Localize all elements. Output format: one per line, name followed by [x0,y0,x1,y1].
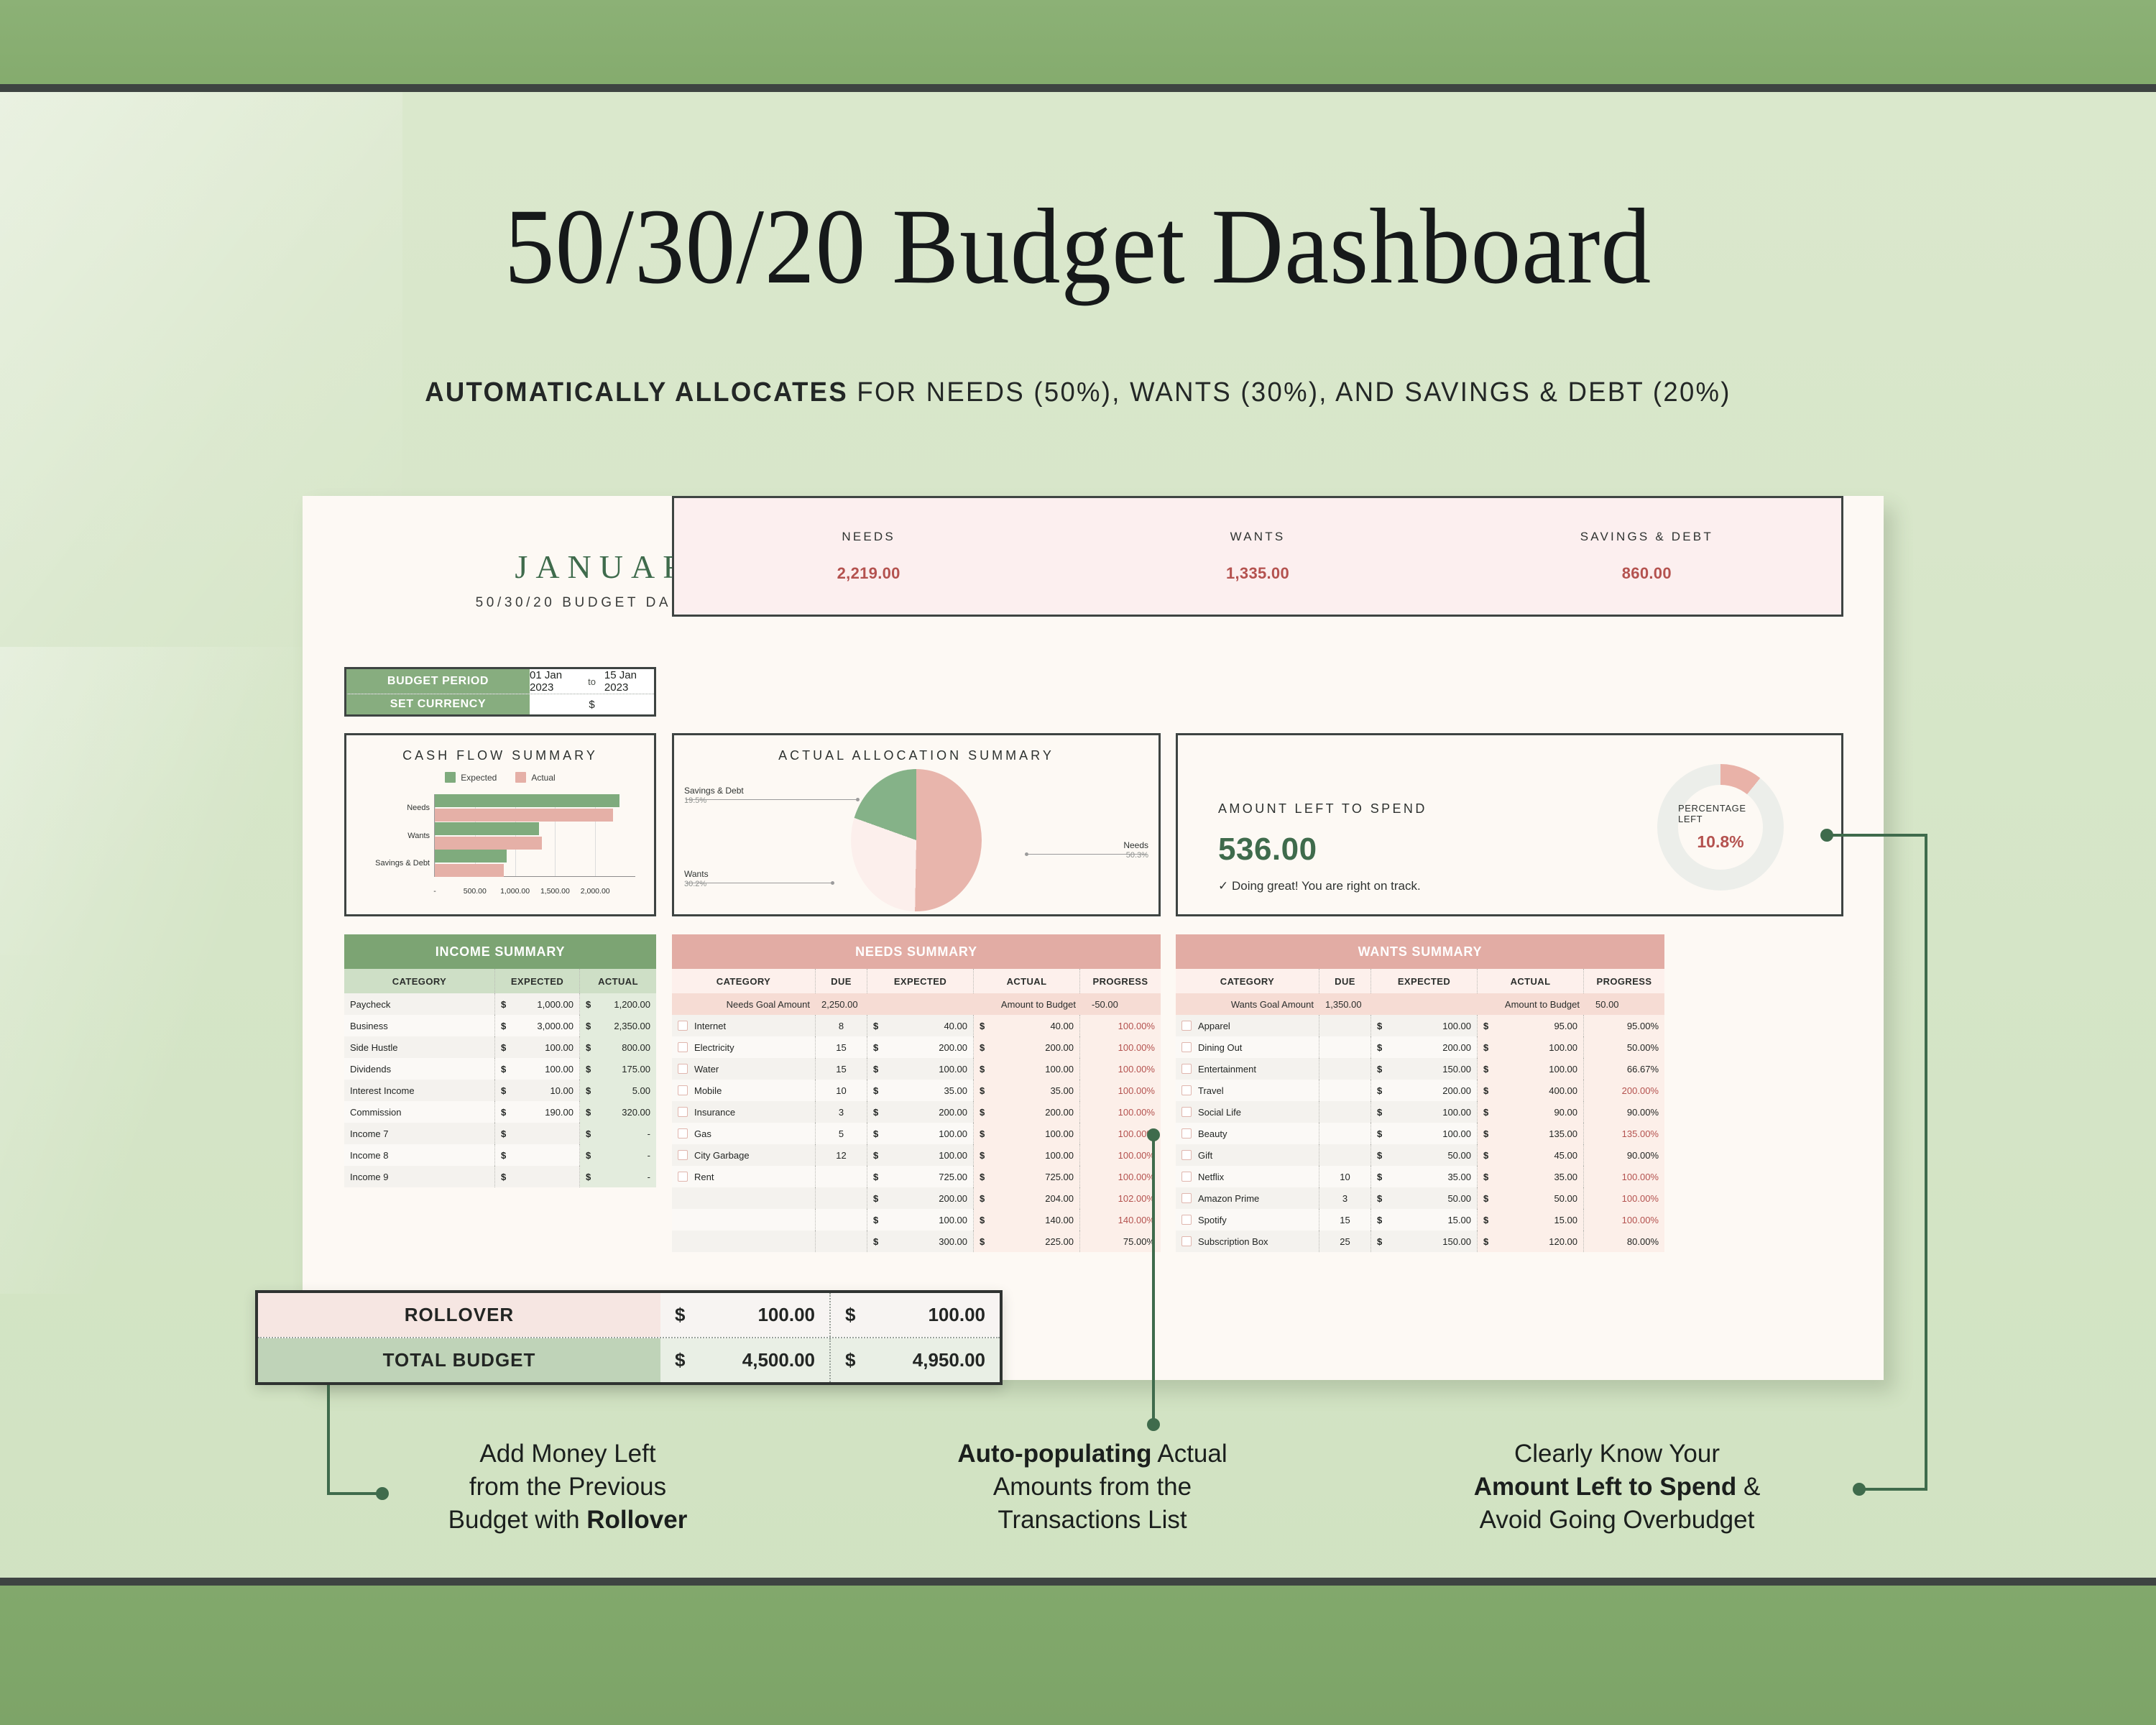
kpi-needs: NEEDS 2,219.00 [674,498,1063,615]
budget-period-value[interactable]: 01 Jan 2023 to 15 Jan 2023 [530,669,654,694]
cell-category: Entertainment [1176,1058,1319,1080]
table-row[interactable]: Spotify15$15.00$15.00100.00% [1176,1209,1664,1230]
cell-category: Business [350,1021,388,1031]
cell-progress: 102.00% [1080,1187,1161,1209]
money: $100.00 [1377,1021,1471,1031]
cell-expected: $200.00 [867,1036,974,1058]
money: $1,200.00 [586,999,650,1010]
cash-flow-summary-card: CASH FLOW SUMMARY Expected Actual -500.0… [344,733,656,916]
col-due: DUE [816,969,867,993]
anno2-line1: Auto-populating Actual [898,1437,1286,1471]
row-checkbox[interactable] [1181,1236,1192,1246]
cell-due [1319,1123,1371,1144]
row-checkbox[interactable] [678,1021,688,1031]
row-checkbox[interactable] [678,1107,688,1117]
total-budget-actual: $4,950.00 [829,1338,1000,1382]
table-row[interactable]: Paycheck$1,000.00$1,200.00 [344,993,656,1015]
cell-category: Travel [1176,1080,1319,1101]
cash-flow-plot-area: -500.001,000.001,500.002,000.00NeedsWant… [356,791,647,903]
currency-symbol: $ [1483,1107,1488,1118]
currency-symbol: $ [1483,1021,1488,1031]
money: $100.00 [1483,1064,1577,1075]
cell-category: Interest Income [350,1085,415,1096]
wants-goal-label: Wants Goal Amount [1176,993,1319,1015]
table-row[interactable]: $200.00$204.00102.00% [672,1187,1161,1209]
cell-actual: $100.00 [974,1123,1080,1144]
amount: 200.00 [1382,1042,1471,1053]
cell-due: 10 [1319,1166,1371,1187]
cell-category: Beauty [1176,1123,1319,1144]
cell-actual: $100.00 [974,1058,1080,1080]
x-axis-tick-label: 2,000.00 [581,887,610,896]
amount: 100.00 [1488,1042,1577,1053]
cell-progress: 100.00% [1584,1166,1664,1187]
cell-actual: $35.00 [1478,1166,1584,1187]
row-checkbox[interactable] [678,1064,688,1074]
row-checkbox[interactable] [678,1150,688,1160]
currency-symbol: $ [980,1064,985,1075]
amount-left-note: ✓ Doing great! You are right on track. [1218,879,1421,893]
currency-symbol: $ [1377,1193,1382,1204]
pie-label-savings-name: Savings & Debt [684,786,744,796]
cell-expected: $100.00 [867,1209,974,1230]
cell-category: Spotify [1198,1215,1227,1225]
cell-expected: $40.00 [867,1015,974,1036]
cell-expected: $ [495,1144,580,1166]
anno1-line3: Budget with Rollover [381,1504,755,1537]
table-row[interactable]: Business$3,000.00$2,350.00 [344,1015,656,1036]
cell-expected: $3,000.00 [495,1015,580,1036]
cell-category: Amazon Prime [1176,1187,1319,1209]
cell-progress: 135.00% [1584,1123,1664,1144]
row-checkbox[interactable] [1181,1064,1192,1074]
col-expected: EXPECTED [495,969,580,993]
set-currency-row: SET CURRENCY $ [346,694,654,714]
amount: 2,350.00 [591,1021,650,1031]
table-row[interactable]: Insurance3$200.00$200.00100.00% [672,1101,1161,1123]
cell-progress: 50.00% [1627,1042,1659,1053]
period-start: 01 Jan 2023 [530,669,579,694]
amount: 400.00 [1488,1085,1577,1096]
wants-summary-title: WANTS SUMMARY [1176,934,1664,969]
amount: 320.00 [591,1107,650,1118]
cell-actual: $- [580,1144,656,1166]
money: $35.00 [980,1085,1074,1096]
cell-expected: $200.00 [1371,1080,1478,1101]
cell-category: Gas [672,1123,816,1144]
cell-progress: 200.00% [1622,1085,1659,1096]
cell-actual: $135.00 [1478,1123,1584,1144]
col-actual: ACTUAL [1478,969,1584,993]
pie-leader-wants [686,883,833,883]
currency-symbol: $ [586,1172,591,1182]
currency-symbol: $ [980,1042,985,1053]
table-row[interactable]: Income 9$$- [344,1166,656,1187]
cell-due: 8 [839,1021,844,1031]
money: $150.00 [1377,1064,1471,1075]
currency-symbol: $ [873,1107,878,1118]
table-row[interactable]: Income 7$$- [344,1123,656,1144]
cell-actual: $2,350.00 [580,1015,656,1036]
amount: 1,000.00 [506,999,573,1010]
pie-label-wants-name: Wants [684,869,709,880]
money: $90.00 [1483,1107,1577,1118]
money: $35.00 [1377,1172,1471,1182]
pie-label-savings: Savings & Debt 19.5% [684,786,744,806]
cell-expected: $100.00 [1371,1101,1478,1123]
currency-symbol: $ [980,1172,985,1182]
cell-progress: 100.00% [1118,1085,1155,1096]
amount: 204.00 [985,1193,1074,1204]
row-checkbox[interactable] [1181,1193,1192,1203]
total-budget-row: TOTAL BUDGET $4,500.00 $4,950.00 [258,1337,1000,1382]
bar-fill [435,850,507,862]
legend-actual: Actual [515,772,555,783]
cell-progress: 80.00% [1627,1236,1659,1247]
table-row[interactable]: Beauty$100.00$135.00135.00% [1176,1123,1664,1144]
cash-flow-legend: Expected Actual [346,772,654,783]
table-row[interactable]: Interest Income$10.00$5.00 [344,1080,656,1101]
money: $100.00 [980,1064,1074,1075]
money: $200.00 [1377,1042,1471,1053]
currency-symbol: $ [980,1236,985,1247]
amount: 300.00 [878,1236,967,1247]
cell-progress: 75.00% [1080,1230,1161,1252]
money: $200.00 [873,1042,967,1053]
cell-due [1319,1101,1371,1123]
subtitle-rest: FOR NEEDS (50%), WANTS (30%), AND SAVING… [848,377,1731,408]
table-row[interactable]: Water15$100.00$100.00100.00% [672,1058,1161,1080]
row-checkbox[interactable] [678,1085,688,1095]
wants-goal-row: Wants Goal Amount 1,350.00 Amount to Bud… [1176,993,1664,1015]
money: $150.00 [1377,1236,1471,1247]
cell-expected: $35.00 [1371,1166,1478,1187]
cell-expected: $300.00 [867,1230,974,1252]
cell-progress: 100.00% [1080,1080,1161,1101]
set-currency-value[interactable]: $ [530,694,654,714]
cell-category: Business [344,1015,495,1036]
legend-swatch-expected [445,772,456,783]
money: $400.00 [1483,1085,1577,1096]
bar-expected-wants [435,822,539,835]
cell-actual: $100.00 [1478,1036,1584,1058]
row-checkbox[interactable] [1181,1042,1192,1052]
currency-symbol: $ [873,1021,878,1031]
col-category: CATEGORY [1176,969,1319,993]
currency-symbol: $ [1483,1042,1488,1053]
connector-dot-end [1853,1483,1866,1496]
cell-expected: $100.00 [1371,1015,1478,1036]
money: $50.00 [1377,1150,1471,1161]
money: $40.00 [873,1021,967,1031]
table-row[interactable]: $300.00$225.0075.00% [672,1230,1161,1252]
table-row[interactable]: Dining Out$200.00$100.0050.00% [1176,1036,1664,1058]
donut-center: PERCENTAGE LEFT 10.8% [1678,785,1763,870]
cell-category: City Garbage [694,1150,750,1161]
cell-category: Income 7 [350,1128,388,1139]
table-row[interactable]: Subscription Box25$150.00$120.0080.00% [1176,1230,1664,1252]
currency-symbol: $ [980,1085,985,1096]
bar-fill [435,809,613,822]
currency-symbol: $ [873,1150,878,1161]
table-row[interactable]: Income 8$$- [344,1144,656,1166]
table-row[interactable]: Amazon Prime3$50.00$50.00100.00% [1176,1187,1664,1209]
amount: 190.00 [506,1107,573,1118]
cell-expected: $100.00 [495,1036,580,1058]
money: $100.00 [873,1215,967,1225]
row-checkbox[interactable] [1181,1021,1192,1031]
table-row[interactable]: Social Life$100.00$90.0090.00% [1176,1101,1664,1123]
cell-due: 15 [1319,1209,1371,1230]
amount: 150.00 [1382,1236,1471,1247]
amount: 100.00 [1488,1064,1577,1075]
cell-category [672,1209,816,1230]
table-row[interactable]: Apparel$100.00$95.0095.00% [1176,1015,1664,1036]
table-row[interactable]: Gas5$100.00$100.00100.00% [672,1123,1161,1144]
amount: - [591,1172,650,1182]
cell-category: Interest Income [344,1080,495,1101]
amount: 175.00 [591,1064,650,1075]
cell-category: Dividends [344,1058,495,1080]
row-checkbox[interactable] [678,1042,688,1052]
cell-progress: 90.00% [1584,1101,1664,1123]
currency-symbol: $ [586,1021,591,1031]
row-checkbox[interactable] [1181,1172,1192,1182]
table-row[interactable]: Travel$200.00$400.00200.00% [1176,1080,1664,1101]
wants-budget-label: Amount to Budget [1399,993,1585,1015]
allocation-pie-wrap: Savings & Debt 19.5% Wants 30.2% Needs 5… [674,770,1158,910]
annotation-transactions: Auto-populating Actual Amounts from the … [898,1437,1286,1537]
cell-category: Insurance [694,1107,735,1118]
cell-progress: 90.00% [1584,1144,1664,1166]
amount: 35.00 [1488,1172,1577,1182]
money: $100.00 [501,1064,573,1075]
anno1-line3-pre: Budget with [448,1506,587,1534]
cell-category: Income 9 [344,1166,495,1187]
currency-symbol: $ [1483,1172,1488,1182]
currency-symbol: $ [1483,1128,1488,1139]
wants-summary-table: WANTS SUMMARY CATEGORY DUE EXPECTED ACTU… [1176,934,1664,1252]
cell-progress: 100.00% [1584,1187,1664,1209]
bar-actual-needs [435,809,613,822]
cell-category: Travel [1198,1085,1224,1096]
table-row[interactable]: Entertainment$150.00$100.0066.67% [1176,1058,1664,1080]
currency-symbol: $ [586,1085,591,1096]
kpi-wants-label: WANTS [1230,530,1286,544]
set-currency-label: SET CURRENCY [346,694,530,714]
money: $100.00 [873,1150,967,1161]
actual-allocation-card: ACTUAL ALLOCATION SUMMARY Savings & Debt… [672,733,1161,916]
money: $100.00 [980,1128,1074,1139]
cell-due: 12 [816,1144,867,1166]
money: $- [586,1172,650,1182]
money: $45.00 [1483,1150,1577,1161]
cell-due: 3 [816,1101,867,1123]
table-row[interactable]: Dividends$100.00$175.00 [344,1058,656,1080]
total-budget-expected: $4,500.00 [660,1338,829,1382]
currency-symbol: $ [501,1172,506,1182]
currency-symbol: $ [586,1064,591,1075]
amount: 225.00 [985,1236,1074,1247]
cell-category [672,1230,816,1252]
currency-symbol: $ [980,1150,985,1161]
currency-symbol: $ [1483,1215,1488,1225]
cell-category: Apparel [1198,1021,1230,1031]
amount-left-label: AMOUNT LEFT TO SPEND [1218,801,1427,816]
table-row[interactable]: Internet8$40.00$40.00100.00% [672,1015,1161,1036]
row-checkbox[interactable] [1181,1085,1192,1095]
table-row[interactable]: Electricity15$200.00$200.00100.00% [672,1036,1161,1058]
total-budget-label: TOTAL BUDGET [258,1338,660,1382]
cell-expected: $100.00 [867,1123,974,1144]
money: $225.00 [980,1236,1074,1247]
cell-category: Apparel [1176,1015,1319,1036]
pie-label-needs: Needs 50.3% [1123,840,1148,861]
currency-symbol: $ [1483,1193,1488,1204]
amount: 100.00 [878,1128,967,1139]
money: $200.00 [980,1042,1074,1053]
currency-symbol: $ [873,1215,878,1225]
cell-actual: $120.00 [1478,1230,1584,1252]
amount-left-value: 536.00 [1218,832,1317,868]
currency-symbol: $ [873,1064,878,1075]
cell-due [1319,1144,1371,1166]
amount: 100.00 [1382,1107,1471,1118]
table-row[interactable]: Rent$725.00$725.00100.00% [672,1166,1161,1187]
rollover-actual: $100.00 [829,1293,1000,1337]
row-checkbox[interactable] [678,1172,688,1182]
kpi-wants-value: 1,335.00 [1226,564,1289,583]
cell-actual: $800.00 [580,1036,656,1058]
cell-due: 10 [836,1085,846,1096]
cell-progress: 100.00% [1622,1193,1659,1204]
cell-progress: 66.67% [1627,1064,1659,1075]
table-row[interactable]: $100.00$140.00140.00% [672,1209,1161,1230]
cell-expected: $15.00 [1371,1209,1478,1230]
money: $140.00 [980,1215,1074,1225]
wants-summary-columns: CATEGORY DUE EXPECTED ACTUAL PROGRESS [1176,969,1664,993]
connector-line-h-bottom [1858,1488,1927,1491]
money: $1,000.00 [501,999,573,1010]
rollover-callout: ROLLOVER $100.00 $100.00 TOTAL BUDGET $4… [255,1290,1003,1385]
money: $2,350.00 [586,1021,650,1031]
amount: 100.00 [1382,1021,1471,1031]
money: $135.00 [1483,1128,1577,1139]
cell-category: Spotify [1176,1209,1319,1230]
table-row[interactable]: Side Hustle$100.00$800.00 [344,1036,656,1058]
top-band [0,0,2156,92]
cell-progress: 100.00% [1118,1064,1155,1075]
cell-category: Netflix [1176,1166,1319,1187]
currency-symbol: $ [1377,1150,1382,1161]
table-row[interactable]: Netflix10$35.00$35.00100.00% [1176,1166,1664,1187]
poster-page: 50/30/20 Budget Dashboard AUTOMATICALLY … [0,0,2156,1725]
amount: 725.00 [985,1172,1074,1182]
cell-category: Mobile [672,1080,816,1101]
money: $50.00 [1377,1193,1471,1204]
amount: 50.00 [1382,1150,1471,1161]
cell-category: Side Hustle [344,1036,495,1058]
cell-expected: $100.00 [495,1058,580,1080]
connector-line-h [327,1492,381,1495]
cell-actual: $95.00 [1478,1015,1584,1036]
money: $100.00 [1377,1128,1471,1139]
currency-symbol: $ [501,1064,506,1075]
cell-expected: $200.00 [867,1101,974,1123]
cell-actual: $45.00 [1478,1144,1584,1166]
table-row[interactable]: Commission$190.00$320.00 [344,1101,656,1123]
row-checkbox[interactable] [678,1128,688,1138]
cell-category: Subscription Box [1176,1230,1319,1252]
cell-actual: $15.00 [1478,1209,1584,1230]
row-checkbox[interactable] [1181,1107,1192,1117]
table-row[interactable]: Mobile10$35.00$35.00100.00% [672,1080,1161,1101]
money: $100.00 [873,1128,967,1139]
cell-due [816,1166,867,1187]
x-axis-tick-label: 1,500.00 [540,887,570,896]
cell-actual: $175.00 [580,1058,656,1080]
bar-fill [435,822,539,835]
money: $ [501,1128,573,1139]
money: $200.00 [980,1107,1074,1118]
money: $3,000.00 [501,1021,573,1031]
table-row[interactable]: City Garbage12$100.00$100.00100.00% [672,1144,1161,1166]
cell-category: Mobile [694,1085,722,1096]
income-summary-table: INCOME SUMMARY CATEGORY EXPECTED ACTUAL … [344,934,656,1187]
currency-symbol: $ [980,1107,985,1118]
kpi-wants: WANTS 1,335.00 [1063,498,1452,615]
cell-category: Side Hustle [350,1042,397,1053]
money: $725.00 [980,1172,1074,1182]
cell-expected: $ [495,1123,580,1144]
anno2-line3: Transactions List [898,1504,1286,1537]
connector-dot-end [1147,1418,1160,1431]
y-axis-tick-label: Wants [407,832,430,840]
bar-fill [435,794,619,807]
row-checkbox[interactable] [1181,1128,1192,1138]
cell-category: Water [694,1064,719,1075]
currency-symbol: $ [501,1042,506,1053]
bar-fill [435,864,504,877]
cell-actual: $200.00 [974,1101,1080,1123]
cell-expected: $50.00 [1371,1144,1478,1166]
currency-symbol: $ [501,1021,506,1031]
anno1-line1: Add Money Left [381,1437,755,1471]
page-subtitle: AUTOMATICALLY ALLOCATES FOR NEEDS (50%),… [43,377,2113,408]
money: $800.00 [586,1042,650,1053]
row-checkbox[interactable] [1181,1150,1192,1160]
cell-progress: 50.00% [1584,1036,1664,1058]
cell-progress: 90.00% [1627,1150,1659,1161]
table-row[interactable]: Gift$50.00$45.0090.00% [1176,1144,1664,1166]
cell-progress: 100.00% [1080,1058,1161,1080]
currency-symbol: $ [586,1128,591,1139]
period-joiner: to [588,676,596,687]
cell-progress: 100.00% [1118,1107,1155,1118]
needs-summary-columns: CATEGORY DUE EXPECTED ACTUAL PROGRESS [672,969,1161,993]
rollover-expected: $100.00 [660,1293,829,1337]
cell-actual: $- [580,1123,656,1144]
row-checkbox[interactable] [1181,1215,1192,1225]
amount: 200.00 [985,1042,1074,1053]
budget-period-row: BUDGET PERIOD 01 Jan 2023 to 15 Jan 2023 [346,669,654,694]
cell-actual: $200.00 [974,1036,1080,1058]
cell-due: 5 [839,1128,844,1139]
cell-expected: $150.00 [1371,1058,1478,1080]
pie-label-needs-pct: 50.3% [1123,851,1148,861]
currency-symbol: $ [1483,1236,1488,1247]
cell-progress: 100.00% [1080,1036,1161,1058]
